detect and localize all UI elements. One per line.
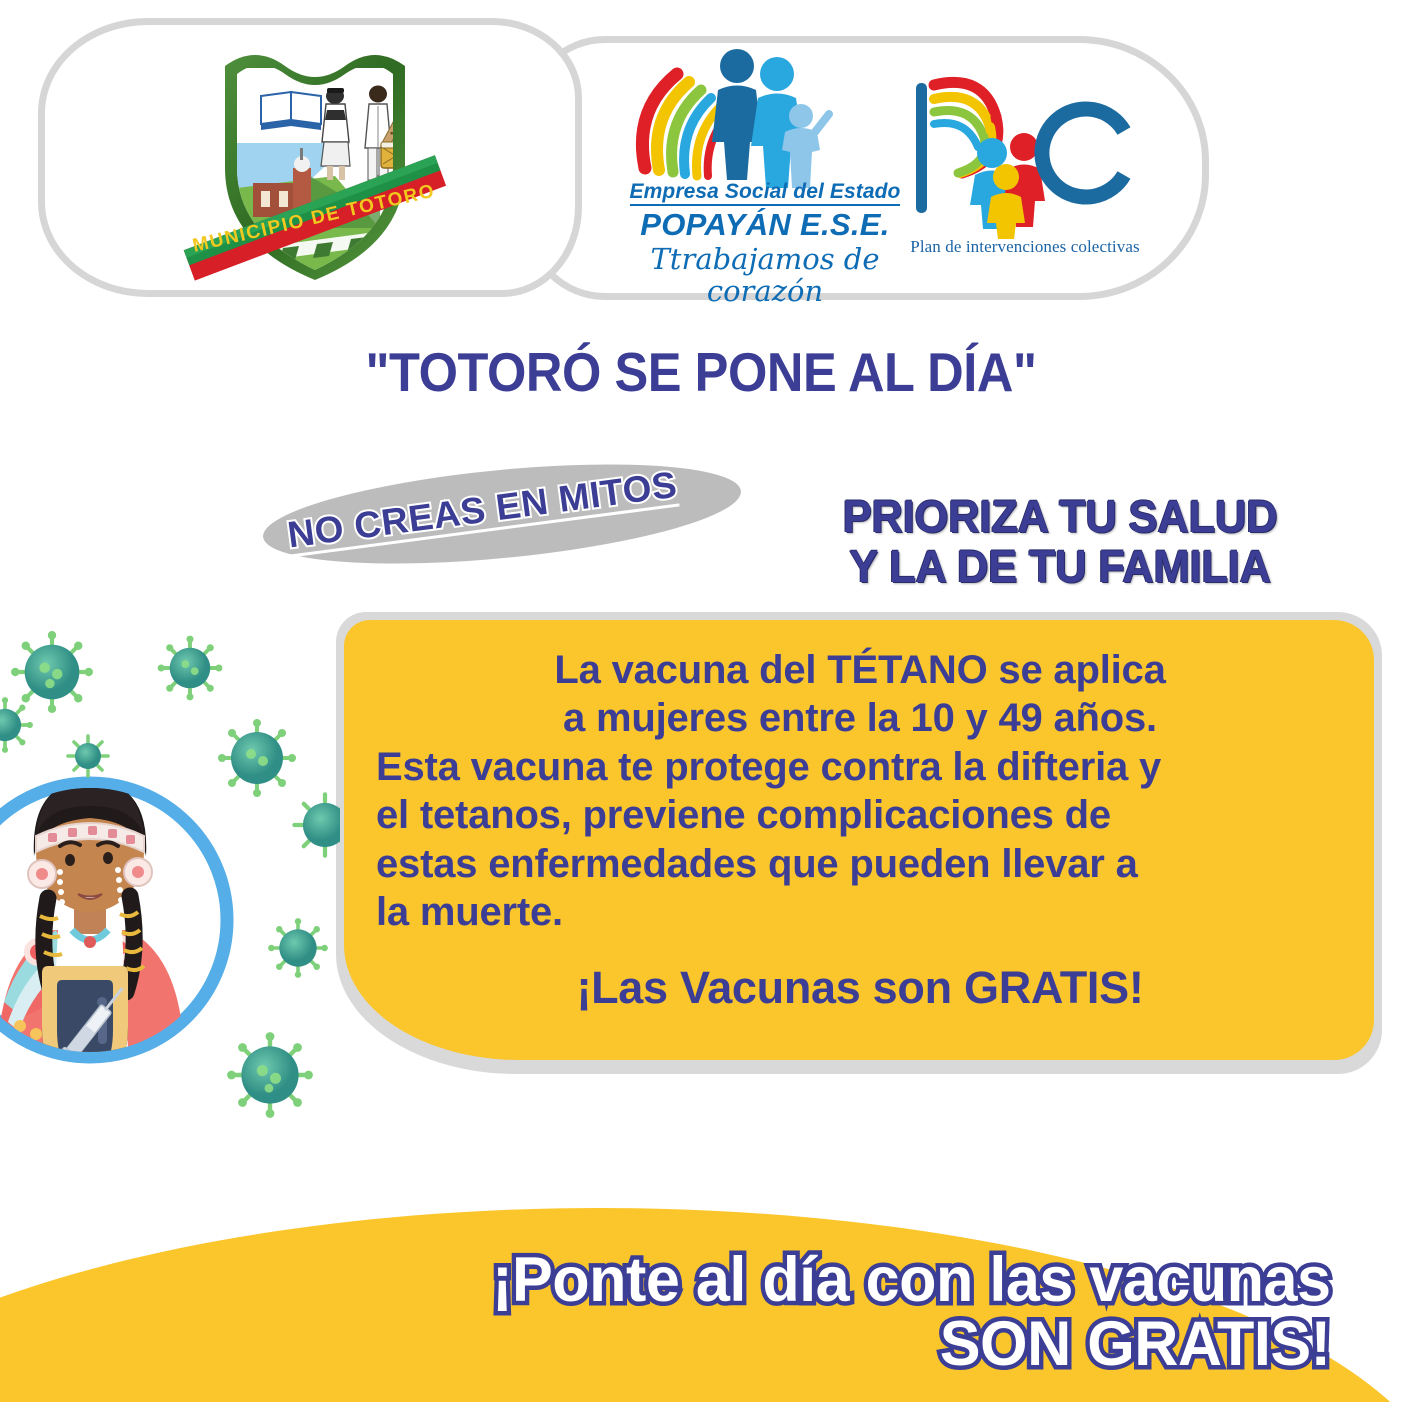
info-free-label: ¡Las Vacunas son GRATIS!	[376, 962, 1344, 1014]
info-line-3: Esta vacuna te protege contra la difteri…	[376, 743, 1344, 791]
info-line-6: la muerte.	[376, 888, 1344, 936]
info-line-4: el tetanos, previene complicaciones de	[376, 791, 1344, 839]
pic-logo: Plan de intervenciones colectivas	[900, 55, 1160, 270]
pic-logo-mark	[900, 55, 1160, 245]
info-line-2: a mujeres entre la 10 y 49 años.	[376, 694, 1344, 742]
page-title: "TOTORÓ SE PONE AL DÍA"	[56, 340, 1346, 404]
vaccine-woman-illustration	[0, 630, 340, 1130]
ese-popayan-logo: Empresa Social del Estado POPAYÁN E.S.E.…	[615, 40, 915, 275]
headline-line-2: Y LA DE TU FAMILIA	[769, 542, 1351, 592]
info-line-5: estas enfermedades que pueden llevar a	[376, 840, 1344, 888]
info-box: La vacuna del TÉTANO se aplica a mujeres…	[344, 620, 1374, 1060]
myth-badge: NO CREAS EN MITOS	[262, 462, 762, 570]
footer-line-1: ¡Ponte al día con las vacunas	[21, 1248, 1331, 1312]
ese-logo-mark	[615, 40, 915, 190]
municipality-shield-logo: MUNICIPIO DE TOTORO	[175, 48, 455, 283]
footer-line-2: SON GRATIS!	[21, 1312, 1331, 1376]
ese-line1: Empresa Social del Estado	[630, 180, 901, 206]
ese-line2: POPAYÁN E.S.E.	[615, 208, 915, 243]
info-line-1: La vacuna del TÉTANO se aplica	[376, 646, 1344, 694]
footer-cta: ¡Ponte al día con las vacunas SON GRATIS…	[21, 1248, 1381, 1377]
poster-canvas: MUNICIPIO DE TOTORO	[0, 0, 1402, 1402]
ese-line3: Ttrabajamos de corazón	[615, 244, 915, 308]
headline: PRIORIZA TU SALUD Y LA DE TU FAMILIA	[769, 492, 1351, 593]
headline-line-1: PRIORIZA TU SALUD	[769, 492, 1351, 542]
pic-logo-caption: Plan de intervenciones colectivas	[900, 237, 1150, 257]
ese-logo-text: Empresa Social del Estado POPAYÁN E.S.E.…	[615, 180, 915, 308]
